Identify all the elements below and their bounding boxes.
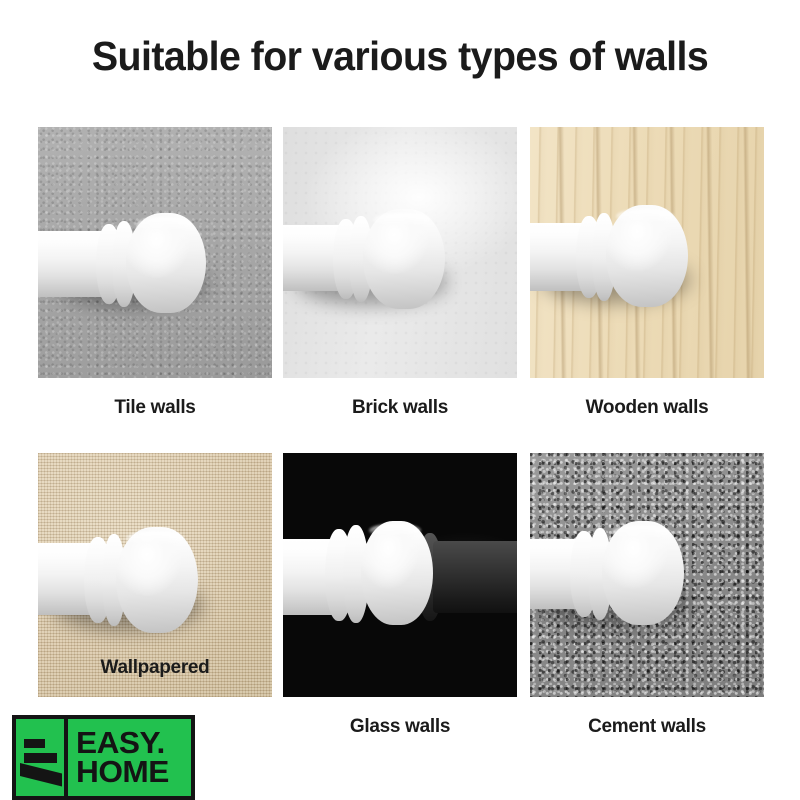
photo-wallpapered: Wallpapered [38, 453, 272, 697]
curtain-rod-hardware [38, 519, 226, 647]
wall-type-gallery: Tile walls Brick walls [38, 127, 765, 737]
mark-bar-top [24, 739, 45, 748]
brand-wordmark: EASY. HOME [68, 719, 191, 796]
page-title: Suitable for various types of walls [16, 33, 784, 80]
photo-tile-walls [38, 127, 272, 378]
gallery-item-wooden-walls[interactable]: Wooden walls [530, 127, 764, 419]
gallery-item-label: Tile walls [38, 397, 272, 419]
gallery-item-glass-walls[interactable]: Glass walls [283, 453, 517, 738]
gallery-item-tile-walls[interactable]: Tile walls [38, 127, 272, 419]
curtain-rod-hardware [283, 517, 465, 639]
gallery-item-wallpapered[interactable]: Wallpapered [38, 453, 272, 697]
gallery-item-label: Wooden walls [530, 397, 764, 419]
photo-wooden-walls [530, 127, 764, 378]
gallery-item-label: Wallpapered [38, 657, 272, 679]
mark-bar-mid [24, 753, 57, 763]
mark-bar-diagonal [20, 763, 62, 786]
curtain-rod-hardware [530, 515, 714, 641]
curtain-rod-hardware [38, 205, 228, 320]
curtain-rod-hardware [530, 199, 716, 319]
gallery-item-label: Brick walls [283, 397, 517, 419]
gallery-item-label: Glass walls [283, 716, 517, 738]
photo-brick-walls [283, 127, 517, 378]
gallery-item-brick-walls[interactable]: Brick walls [283, 127, 517, 419]
photo-glass-walls [283, 453, 517, 697]
gallery-item-label: Cement walls [530, 716, 764, 738]
brand-line-2: HOME [76, 758, 193, 787]
easy-home-mark-icon [16, 719, 68, 796]
curtain-rod-hardware [283, 203, 471, 321]
photo-cement-walls [530, 453, 764, 697]
brand-logo[interactable]: EASY. HOME [12, 715, 195, 800]
gallery-item-cement-walls[interactable]: Cement walls [530, 453, 764, 738]
